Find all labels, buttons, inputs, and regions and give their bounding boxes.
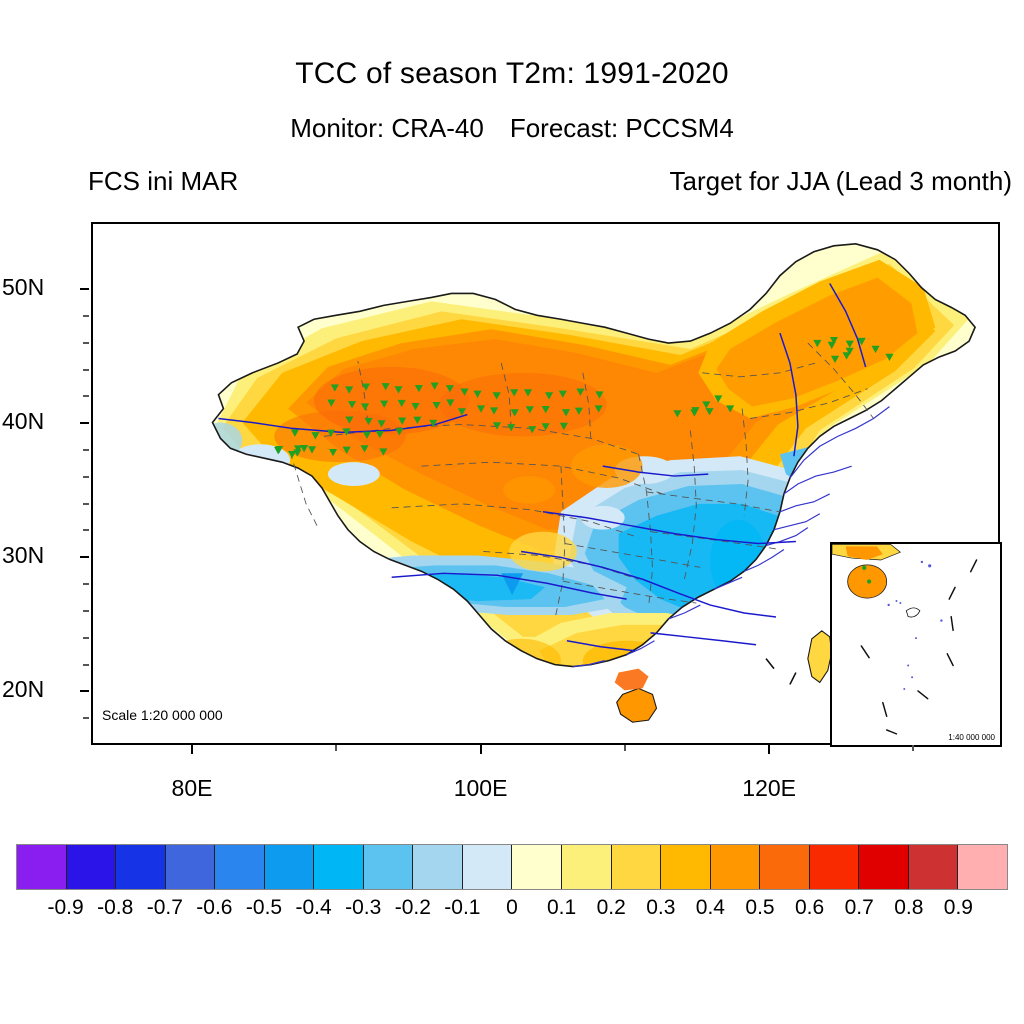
colorbar-swatch [166, 845, 216, 889]
colorbar: -0.9-0.8-0.7-0.6-0.5-0.4-0.3-0.2-0.100.1… [16, 844, 1008, 890]
colorbar-swatch [67, 845, 117, 889]
colorbar-swatch [711, 845, 761, 889]
lat-tick-major [80, 556, 89, 558]
colorbar-swatch [810, 845, 860, 889]
lon-tick-minor [335, 745, 337, 751]
colorbar-tick-label: -0.9 [48, 896, 84, 920]
colorbar-swatch [958, 845, 1007, 889]
colorbar-swatch [17, 845, 67, 889]
lat-axis-label: 20N [2, 676, 44, 703]
colorbar-swatch [413, 845, 463, 889]
colorbar-swatch [562, 845, 612, 889]
lat-axis-label: 40N [2, 408, 44, 435]
page-title: TCC of season T2m: 1991-2020 [0, 57, 1024, 91]
colorbar-tick-label: 0.7 [845, 896, 874, 920]
inset-map [832, 544, 1000, 745]
colorbar-swatch [364, 845, 414, 889]
colorbar-tick-label: -0.4 [296, 896, 332, 920]
colorbar-swatch [265, 845, 315, 889]
colorbar-tick-label: 0.5 [745, 896, 774, 920]
hainan-island [617, 688, 657, 722]
lon-tick-major [768, 745, 770, 754]
colorbar-swatch [314, 845, 364, 889]
colorbar-tick-label: 0.6 [795, 896, 824, 920]
colorbar-tick-label: 0.8 [894, 896, 923, 920]
lon-axis-label: 80E [172, 775, 213, 802]
colorbar-tick-label: -0.5 [246, 896, 282, 920]
colorbar-tick-labels: -0.9-0.8-0.7-0.6-0.5-0.4-0.3-0.2-0.100.1… [16, 896, 1008, 926]
lat-tick-minor [83, 503, 89, 505]
colorbar-tick-label: -0.8 [97, 896, 133, 920]
colorbar-swatch [116, 845, 166, 889]
title-block: TCC of season T2m: 1991-2020 Monitor: CR… [0, 0, 1024, 210]
lon-tick-major [191, 745, 193, 754]
colorbar-tick-label: 0 [506, 896, 518, 920]
colorbar-tick-label: 0.2 [597, 896, 626, 920]
lat-tick-minor [83, 529, 89, 531]
lat-tick-minor [83, 664, 89, 666]
colorbar-tick-label: -0.2 [395, 896, 431, 920]
map-scale-text: Scale 1:20 000 000 [102, 707, 223, 723]
colorbar-tick-label: 0.3 [646, 896, 675, 920]
south-china-sea-inset: 1:40 000 000 [830, 542, 1002, 747]
lon-axis-label: 100E [454, 775, 508, 802]
colorbar-tick-label: 0.9 [944, 896, 973, 920]
colorbar-swatch [661, 845, 711, 889]
colorbar-swatch [215, 845, 265, 889]
colorbar-tick-label: -0.1 [444, 896, 480, 920]
colorbar-swatch [512, 845, 562, 889]
colorbar-tick-label: -0.3 [345, 896, 381, 920]
lon-axis-label: 120E [742, 775, 796, 802]
inset-scale-text: 1:40 000 000 [948, 733, 995, 742]
taiwan-island [808, 631, 832, 683]
lat-tick-major [80, 690, 89, 692]
colorbar-swatch [859, 845, 909, 889]
lon-tick-major [480, 745, 482, 754]
map-plot-frame: Scale 1:20 000 000 [91, 222, 1000, 745]
lat-axis-label: 50N [2, 274, 44, 301]
colorbar-swatch [612, 845, 662, 889]
colorbar-tick-label: -0.7 [147, 896, 183, 920]
monitor-label: Monitor: CRA-40 [290, 113, 484, 144]
lat-tick-minor [83, 717, 89, 719]
colorbar-tick-label: 0.1 [547, 896, 576, 920]
lat-tick-minor [83, 583, 89, 585]
colorbar-tick-label: -0.6 [196, 896, 232, 920]
lon-tick-minor [624, 745, 626, 751]
lat-tick-minor [83, 315, 89, 317]
colorbar-swatches [16, 844, 1008, 890]
colorbar-swatch [463, 845, 513, 889]
colorbar-tick-label: 0.4 [696, 896, 725, 920]
lat-tick-minor [83, 369, 89, 371]
fcs-init-label: FCS ini MAR [88, 166, 238, 197]
lat-axis-label: 30N [2, 542, 44, 569]
lat-tick-major [80, 288, 89, 290]
lat-tick-minor [83, 476, 89, 478]
lat-tick-minor [83, 637, 89, 639]
lat-tick-minor [83, 342, 89, 344]
lat-tick-major [80, 422, 89, 424]
forecast-label: Forecast: PCCSM4 [510, 113, 734, 144]
lat-tick-minor [83, 610, 89, 612]
colorbar-swatch [760, 845, 810, 889]
lat-tick-minor [83, 395, 89, 397]
subtitle-row: Monitor: CRA-40Forecast: PCCSM4 [0, 113, 1024, 144]
colorbar-swatch [909, 845, 959, 889]
lat-tick-minor [83, 449, 89, 451]
target-label: Target for JJA (Lead 3 month) [669, 166, 1012, 197]
lon-tick-minor [912, 745, 914, 751]
